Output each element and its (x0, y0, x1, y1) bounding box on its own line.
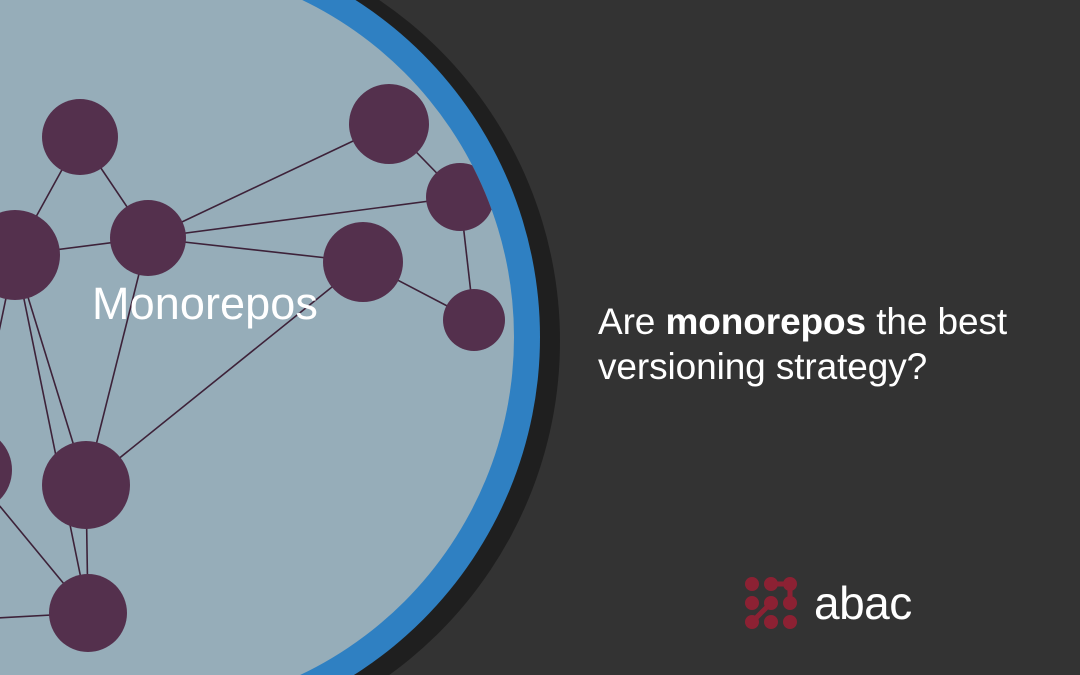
network-node (443, 289, 505, 351)
network-node (42, 441, 130, 529)
slide-root: Monorepos Are monorepos the best version… (0, 0, 1080, 675)
right-panel: Are monorepos the best versioning strate… (560, 0, 1080, 675)
network-graphic: Monorepos (0, 0, 620, 675)
network-node (110, 200, 186, 276)
logo-dot (745, 596, 759, 610)
abac-logo: abac (745, 577, 912, 629)
headline: Are monorepos the best versioning strate… (598, 299, 1068, 389)
logo-dot (745, 577, 759, 591)
logo-dot (783, 577, 797, 591)
abac-logo-mark-icon (745, 577, 797, 629)
network-node (42, 99, 118, 175)
network-node (349, 84, 429, 164)
logo-dot (745, 615, 759, 629)
headline-emphasis: monorepos (665, 301, 866, 342)
logo-dot (783, 596, 797, 610)
headline-before: Are (598, 301, 665, 342)
network-node (323, 222, 403, 302)
network-graphic-svg (0, 0, 620, 675)
logo-dot (764, 596, 778, 610)
abac-logo-wordmark: abac (814, 580, 912, 626)
logo-dot (783, 615, 797, 629)
network-node (49, 574, 127, 652)
logo-dot (764, 577, 778, 591)
logo-dot (764, 615, 778, 629)
